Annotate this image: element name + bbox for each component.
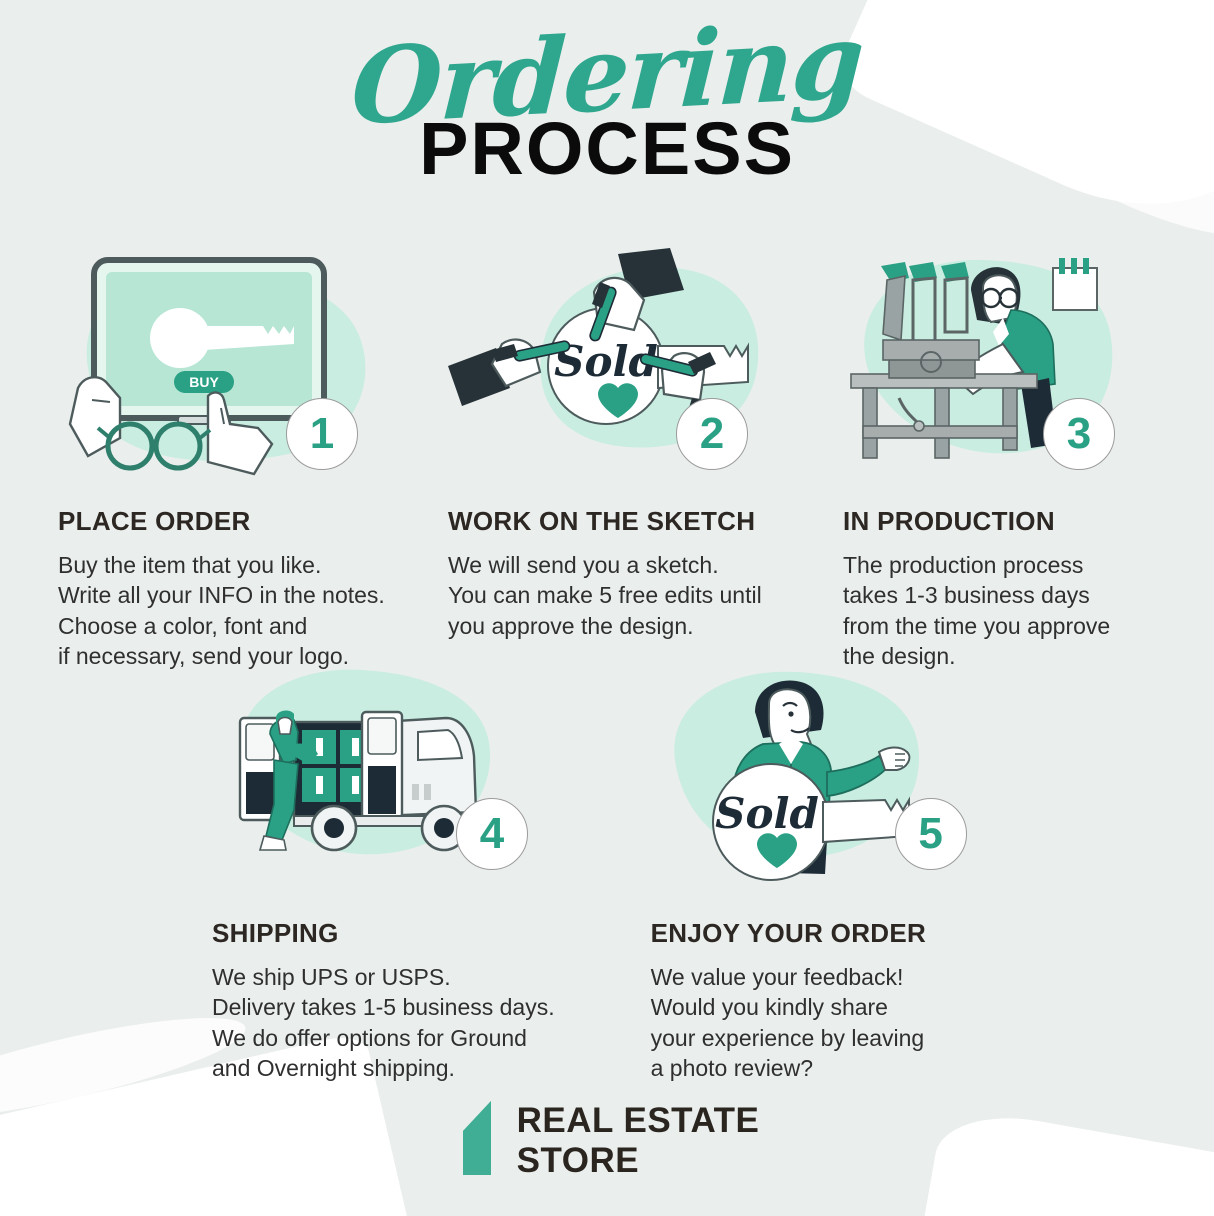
step-card-2: Sold 2 WORK ON THE SKETCH <box>448 248 843 671</box>
illustration-place-order: BUY 1 <box>58 248 448 480</box>
infographic-page: Ordering PROCESS BUY <box>0 0 1214 1216</box>
step-badge-1: 1 <box>286 398 358 470</box>
step-body-3: The production process takes 1-3 busines… <box>843 550 1168 671</box>
step-card-4: 4 SHIPPING We ship UPS or USPS. Delivery… <box>212 660 651 1083</box>
svg-text:Sold: Sold <box>715 789 819 838</box>
steps-row-one: BUY 1 PLACE ORDER Buy the item that you … <box>58 248 1168 671</box>
step-badge-3: 3 <box>1043 398 1115 470</box>
page-title: Ordering PROCESS <box>0 22 1214 186</box>
step-title-1: PLACE ORDER <box>58 506 448 537</box>
step-title-2: WORK ON THE SKETCH <box>448 506 843 537</box>
footer-logo: REAL ESTATE STORE <box>0 1101 1214 1180</box>
logo-wordmark: REAL ESTATE STORE <box>517 1101 760 1179</box>
step-body-1: Buy the item that you like. Write all yo… <box>58 550 448 671</box>
step-title-4: SHIPPING <box>212 918 651 949</box>
steps-row-two: 4 SHIPPING We ship UPS or USPS. Delivery… <box>212 660 1032 1083</box>
step-title-3: IN PRODUCTION <box>843 506 1168 537</box>
illustration-enjoy-your-order: Sold 5 <box>651 660 1032 892</box>
house-arrow-icon <box>455 1101 501 1180</box>
step-body-2: We will send you a sketch. You can make … <box>448 550 843 641</box>
step-badge-4: 4 <box>456 798 528 870</box>
svg-text:BUY: BUY <box>189 374 219 390</box>
step-card-3: 3 IN PRODUCTION The production process t… <box>843 248 1168 671</box>
step-card-1: BUY 1 PLACE ORDER Buy the item that you … <box>58 248 448 671</box>
step-body-4: We ship UPS or USPS. Delivery takes 1-5 … <box>212 962 651 1083</box>
illustration-shipping: 4 <box>212 660 651 892</box>
step-badge-5: 5 <box>895 798 967 870</box>
step-badge-2: 2 <box>676 398 748 470</box>
step-body-5: We value your feedback! Would you kindly… <box>651 962 1032 1083</box>
illustration-work-on-sketch: Sold 2 <box>448 248 843 480</box>
illustration-in-production: 3 <box>843 248 1168 480</box>
step-card-5: Sold 5 ENJOY YOUR ORDER We value your fe… <box>651 660 1032 1083</box>
step-title-5: ENJOY YOUR ORDER <box>651 918 1032 949</box>
